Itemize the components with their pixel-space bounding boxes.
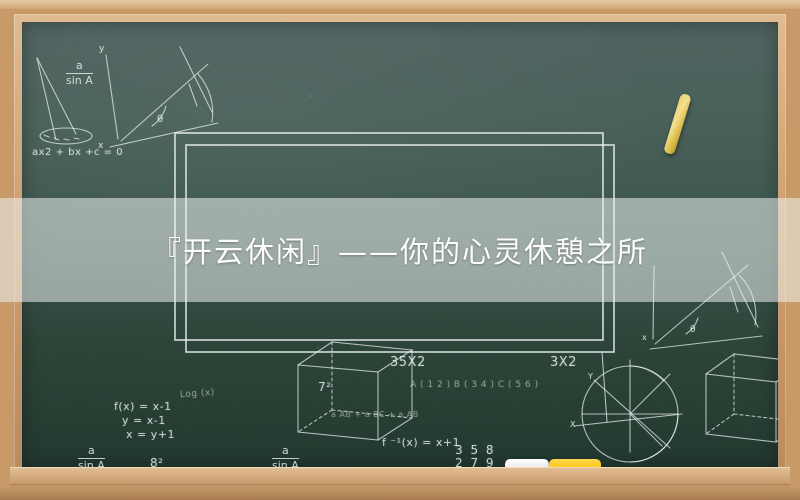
abc-sum-text: a AB + a BC + a AB <box>331 410 419 419</box>
chalk-tray-ledge <box>10 467 790 489</box>
inverse-function: f ⁻¹(x) = x+1 <box>382 436 460 449</box>
function-line-1: f(x) = x-1 <box>114 400 172 413</box>
axis-label-y-left: y <box>99 44 105 54</box>
angle-label-theta-left: θ <box>157 114 164 125</box>
fraction-a-over-sina-bottom-left: a sin A <box>78 445 105 467</box>
fraction-a-over-sina-bottom-mid: a sin A <box>272 445 299 467</box>
angle-diagram-left <box>106 47 218 147</box>
angle-label-theta-right: θ <box>690 325 696 335</box>
banner-title: 『开云休闲』——你的心灵休憩之所 <box>0 198 800 302</box>
matrix-row-text: A ( 1 2 ) B ( 3 4 ) C ( 5 6 ) <box>410 380 539 390</box>
power-seven: 7² <box>318 380 331 394</box>
axis-label-x-right: x <box>642 333 647 342</box>
quadratic-equation: ax2 + bx +c = 0 <box>32 147 123 158</box>
cube-diagram-right <box>706 354 778 442</box>
function-line-3: x = y+1 <box>126 428 175 441</box>
sum-line-1: 3 5 8 <box>455 443 496 457</box>
axis-cross-circle <box>574 352 682 426</box>
promo-banner-stage: a sin A y x θ ax2 + bx +c = 0 x θ 35X2 3… <box>0 0 800 500</box>
function-line-2: y = x-1 <box>122 414 166 427</box>
fraction-a-over-sina-topleft: a sin A <box>66 60 93 86</box>
axis-label-y-circle: Y <box>588 372 593 381</box>
tray-edge-line <box>10 484 790 485</box>
term-35x2: 35X2 <box>390 355 426 370</box>
circle-pie-diagram <box>582 360 678 462</box>
sum-line-2: 2 7 9 <box>455 456 496 467</box>
axis-label-x-circle: X <box>570 420 576 429</box>
frame-top-highlight <box>0 0 800 9</box>
term-3x2: 3X2 <box>550 355 577 370</box>
power-eight: 8² <box>150 456 163 467</box>
